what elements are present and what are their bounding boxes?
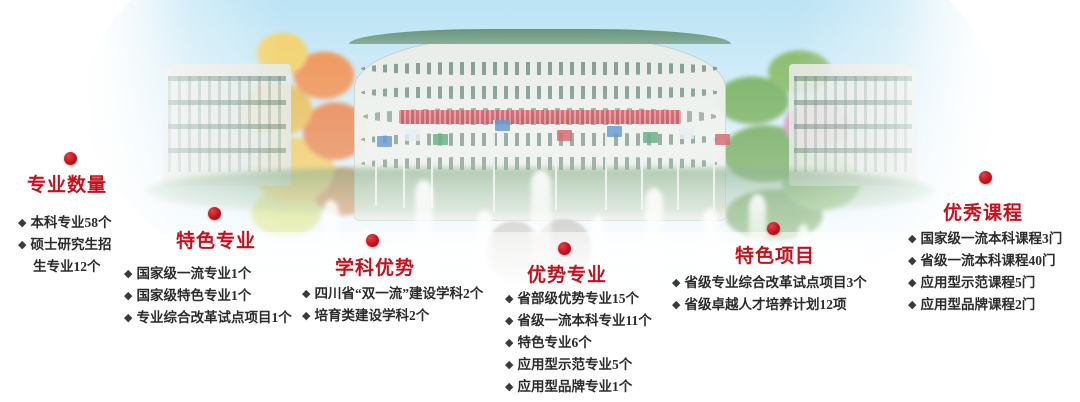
group-item-list: ◆ 国家级一流专业1个 ◆ 国家级特色专业1个 ◆ 专业综合改革试点项目1个 (124, 263, 292, 329)
marker-dot (558, 242, 571, 255)
diamond-bullet-icon: ◆ (124, 285, 132, 307)
list-item: ◆ 特色专业6个 (505, 332, 652, 354)
diamond-bullet-icon: ◆ (302, 283, 310, 305)
group-title: 专业数量 (27, 170, 107, 197)
list-item: ◆ 专业综合改革试点项目1个 (124, 307, 292, 329)
list-item-label: 四川省“双一流”建设学科2个 (314, 283, 483, 305)
diamond-bullet-icon: ◆ (908, 272, 916, 294)
list-item: ◆ 国家级特色专业1个 (124, 285, 292, 307)
list-item-label: 硕士研究生招 (30, 234, 111, 256)
list-item-label: 应用型示范课程5门 (920, 272, 1035, 294)
diamond-bullet-icon: ◆ (18, 212, 26, 234)
group-item-list: ◆ 省级专业综合改革试点项目3个 ◆ 省级卓越人才培养计划12项 (672, 272, 867, 316)
diamond-bullet-icon: ◆ (505, 288, 513, 310)
list-item-label: 生专业12个 (33, 256, 101, 278)
list-item-label: 省部级优势专业15个 (517, 288, 639, 310)
diamond-bullet-icon: ◆ (672, 294, 680, 316)
list-item-label: 国家级一流专业1个 (136, 263, 251, 285)
marker-dot (979, 171, 992, 184)
list-item: ◆ 省级一流本科专业11个 (505, 310, 652, 332)
diamond-bullet-icon: ◆ (18, 234, 26, 256)
diamond-bullet-icon: ◆ (124, 307, 132, 329)
list-item-label: 培育类建设学科2个 (314, 305, 429, 327)
marker-dot (64, 152, 77, 165)
list-item-label: 国家级一流本科课程3门 (920, 228, 1062, 250)
list-item: ◆ 省级专业综合改革试点项目3个 (672, 272, 867, 294)
list-item-label: 应用型品牌专业1个 (517, 376, 632, 398)
list-item-label: 省级卓越人才培养计划12项 (684, 294, 846, 316)
list-item-label: 特色专业6个 (517, 332, 591, 354)
list-item: ◆ 省部级优势专业15个 (505, 288, 652, 310)
list-item-label: 省级一流本科专业11个 (517, 310, 651, 332)
list-item: 生专业12个 (18, 256, 111, 278)
list-item: ◆ 国家级一流本科课程3门 (908, 228, 1062, 250)
diamond-bullet-icon: ◆ (908, 294, 916, 316)
list-item: ◆ 省级一流本科课程40门 (908, 250, 1062, 272)
list-item: ◆ 国家级一流专业1个 (124, 263, 292, 285)
group-item-list: ◆ 本科专业58个 ◆ 硕士研究生招 生专业12个 (18, 212, 111, 278)
marker-dot (366, 234, 379, 247)
group-item-list: ◆ 国家级一流本科课程3门 ◆ 省级一流本科课程40门 ◆ 应用型示范课程5门 … (908, 228, 1062, 316)
diamond-bullet-icon: ◆ (505, 376, 513, 398)
list-item-label: 应用型品牌课程2门 (920, 294, 1035, 316)
marker-dot (208, 207, 221, 220)
list-item-label: 本科专业58个 (30, 212, 111, 234)
list-item: ◆ 应用型示范课程5门 (908, 272, 1062, 294)
diamond-bullet-icon: ◆ (505, 354, 513, 376)
group-title: 特色项目 (735, 241, 815, 268)
group-item-list: ◆ 省部级优势专业15个 ◆ 省级一流本科专业11个 ◆ 特色专业6个 ◆ 应用… (505, 288, 652, 398)
list-item: ◆ 应用型品牌课程2门 (908, 294, 1062, 316)
group-title: 特色专业 (176, 226, 256, 253)
list-item-label: 省级专业综合改革试点项目3个 (684, 272, 866, 294)
list-item: ◆ 本科专业58个 (18, 212, 111, 234)
diamond-bullet-icon: ◆ (124, 263, 132, 285)
marker-dot (767, 222, 780, 235)
diamond-bullet-icon: ◆ (672, 272, 680, 294)
diamond-bullet-icon: ◆ (505, 310, 513, 332)
group-title: 优势专业 (527, 260, 607, 287)
diamond-bullet-icon: ◆ (908, 250, 916, 272)
list-item: ◆ 应用型品牌专业1个 (505, 376, 652, 398)
diamond-bullet-icon: ◆ (505, 332, 513, 354)
list-item: ◆ 硕士研究生招 (18, 234, 111, 256)
group-item-list: ◆ 四川省“双一流”建设学科2个 ◆ 培育类建设学科2个 (302, 283, 483, 327)
diamond-bullet-icon: ◆ (908, 228, 916, 250)
left-white-wash (0, 0, 190, 402)
list-item: ◆ 省级卓越人才培养计划12项 (672, 294, 867, 316)
list-item: ◆ 四川省“双一流”建设学科2个 (302, 283, 483, 305)
list-item: ◆ 培育类建设学科2个 (302, 305, 483, 327)
list-item: ◆ 应用型示范专业5个 (505, 354, 652, 376)
list-item-label: 应用型示范专业5个 (517, 354, 632, 376)
group-title: 优秀课程 (943, 198, 1023, 225)
group-title: 学科优势 (335, 253, 415, 280)
diamond-bullet-icon: ◆ (302, 305, 310, 327)
list-item-label: 省级一流本科课程40门 (920, 250, 1055, 272)
list-item-label: 专业综合改革试点项目1个 (136, 307, 291, 329)
list-item-label: 国家级特色专业1个 (136, 285, 251, 307)
infographic-canvas: 专业数量 ◆ 本科专业58个 ◆ 硕士研究生招 生专业12个 特色专业 ◆ 国家… (0, 0, 1080, 402)
